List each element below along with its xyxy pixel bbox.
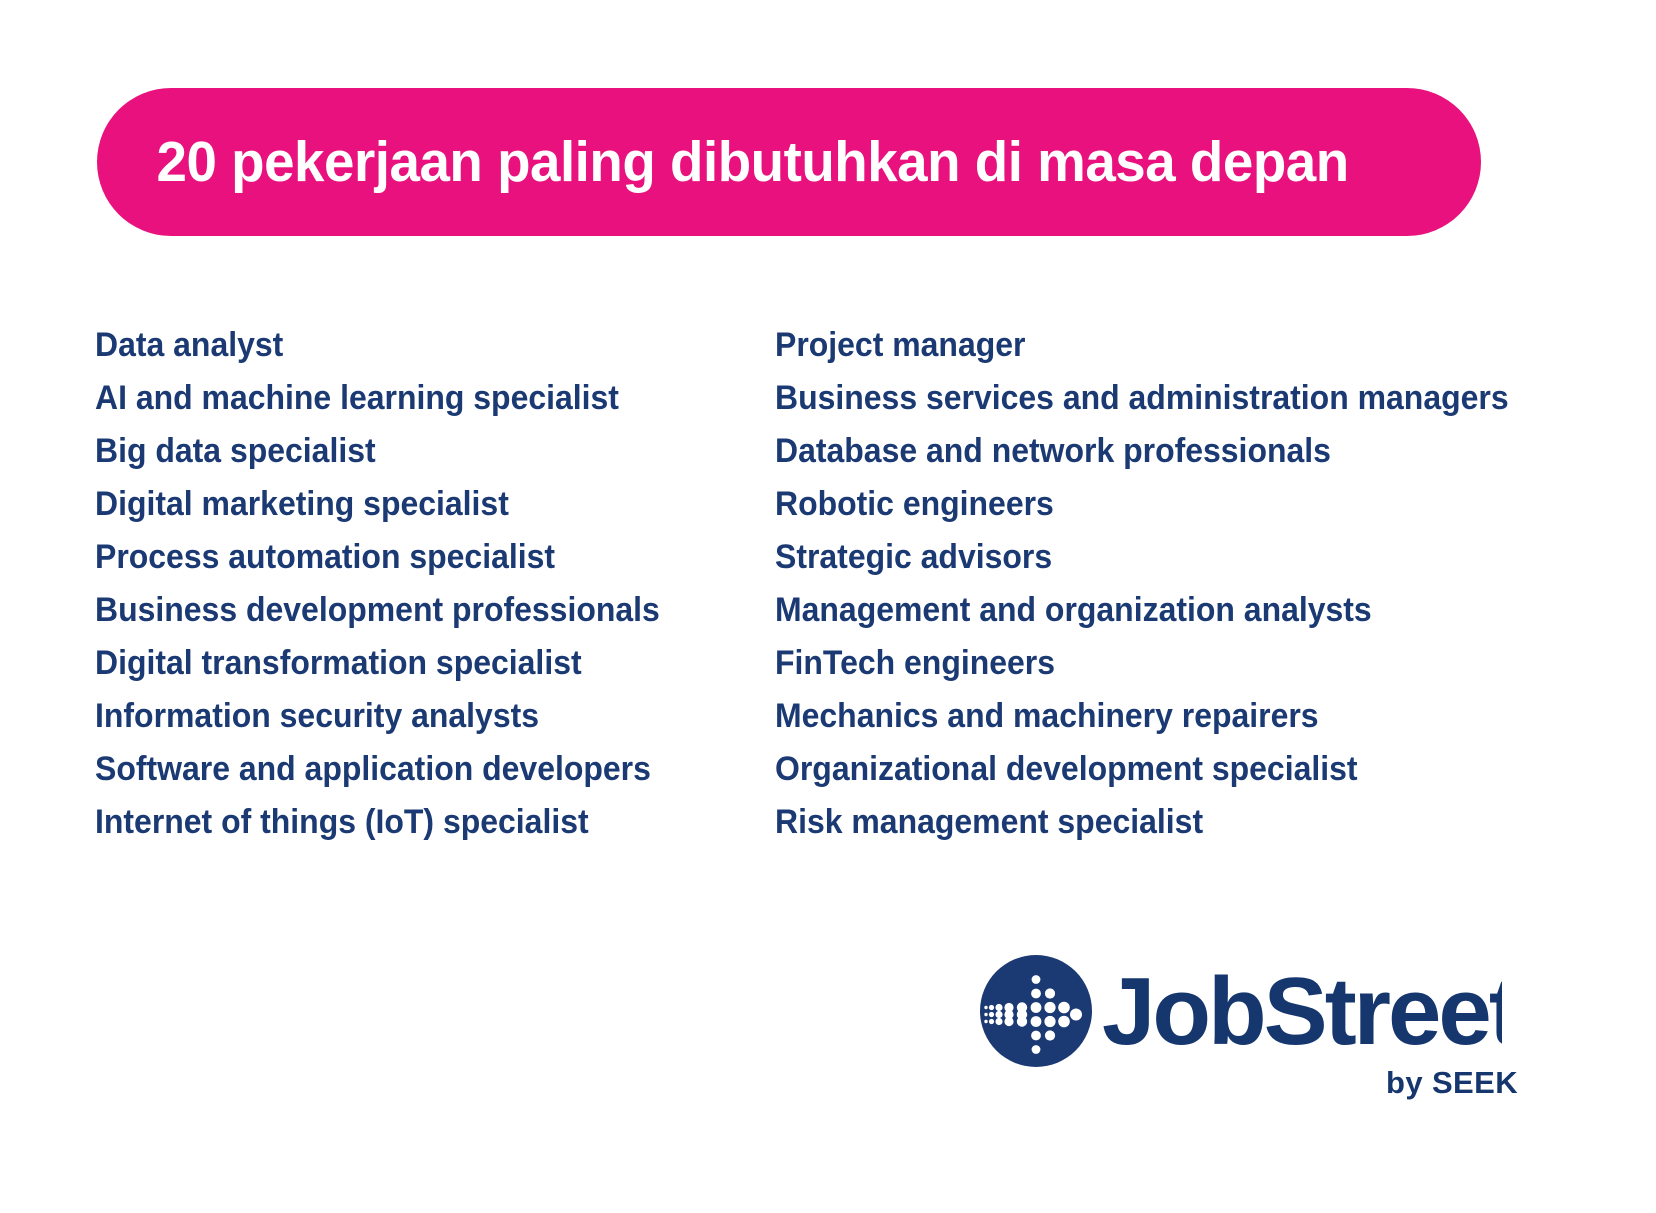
list-item: Digital marketing specialist (95, 477, 734, 530)
list-item: FinTech engineers (775, 636, 1489, 689)
list-item: Big data specialist (95, 424, 734, 477)
list-item: Internet of things (IoT) specialist (95, 795, 734, 848)
list-item: Project manager (775, 318, 1489, 371)
job-list-right-column: Project manager Business services and ad… (775, 318, 1535, 848)
jobstreet-wordmark: JobStreet (1102, 956, 1502, 1068)
list-item: Strategic advisors (775, 530, 1489, 583)
list-item: Database and network professionals (775, 424, 1489, 477)
list-item: Data analyst (95, 318, 734, 371)
title-banner: 20 pekerjaan paling dibutuhkan di masa d… (97, 88, 1481, 236)
logo-byline: by SEEK (1386, 1067, 1518, 1098)
list-item: Digital transformation specialist (95, 636, 734, 689)
jobstreet-wordmark-text: JobStreet (1102, 958, 1502, 1065)
job-list-left-column: Data analyst AI and machine learning spe… (95, 318, 775, 848)
job-list: Data analyst AI and machine learning spe… (0, 318, 1656, 848)
list-item: Business services and administration man… (775, 371, 1489, 424)
list-item: Software and application developers (95, 742, 734, 795)
list-item: Risk management specialist (775, 795, 1489, 848)
list-item: Process automation specialist (95, 530, 734, 583)
list-item: Organizational development specialist (775, 742, 1489, 795)
list-item: Mechanics and machinery repairers (775, 689, 1489, 742)
list-item: Management and organization analysts (775, 583, 1489, 636)
list-item: Robotic engineers (775, 477, 1489, 530)
list-item: Information security analysts (95, 689, 734, 742)
jobstreet-logo: JobStreet by SEEK (980, 955, 1520, 1120)
page-title: 20 pekerjaan paling dibutuhkan di masa d… (97, 134, 1349, 191)
jobstreet-dot-arrow-icon (980, 955, 1092, 1067)
list-item: AI and machine learning specialist (95, 371, 734, 424)
list-item: Business development professionals (95, 583, 734, 636)
